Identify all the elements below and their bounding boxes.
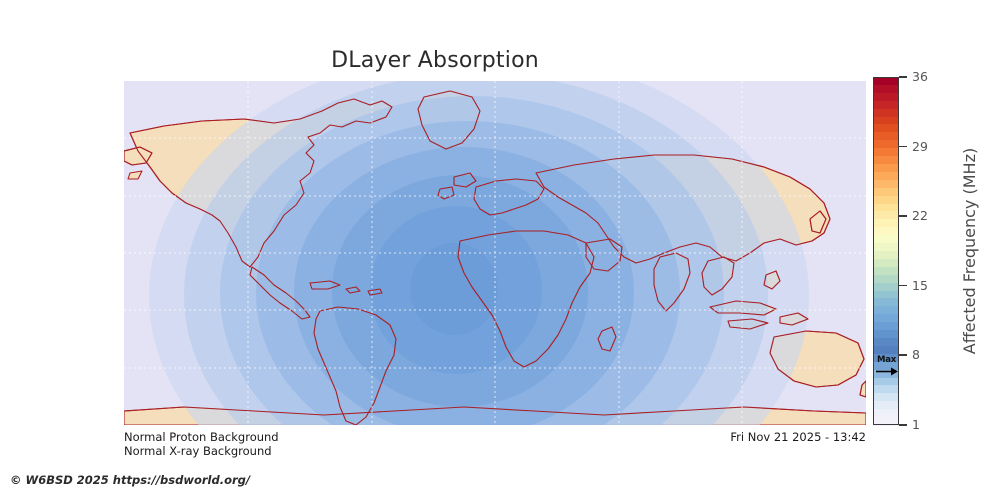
colorbar-tick-label: 22	[912, 208, 928, 224]
colorbar-tick-label: 36	[912, 69, 928, 85]
page-title: DLayer Absorption	[0, 48, 870, 73]
colorbar-tick-line	[899, 215, 907, 217]
plot-root: DLayer Absorption	[0, 0, 1000, 500]
colorbar-tick-line	[899, 354, 907, 356]
colorbar-axis-label: Affected Frequency (MHz)	[957, 77, 983, 425]
timestamp-label: Fri Nov 21 2025 - 13:42	[730, 430, 866, 444]
colorbar-tick-line	[899, 146, 907, 148]
colorbar-tick-label: 8	[912, 347, 920, 363]
copyright-label: © W6BSD 2025 https://bsdworld.org/	[10, 473, 250, 487]
max-arrow-icon	[876, 367, 898, 376]
colorbar-tick-line	[899, 76, 907, 78]
max-marker-label: Max	[877, 355, 896, 365]
note-xray-background: Normal X-ray Background	[124, 444, 272, 458]
colorbar-ticks: 3629221581	[899, 77, 959, 425]
colorbar-tick-label: 29	[912, 139, 928, 155]
colorbar-tick-label: 15	[912, 278, 928, 294]
world-map	[124, 81, 866, 425]
colorbar: Max	[873, 77, 899, 425]
colorbar-tick-line	[899, 424, 907, 426]
note-proton-background: Normal Proton Background	[124, 430, 279, 444]
map-canvas	[124, 81, 866, 425]
colorbar-tick-label: 1	[912, 417, 920, 433]
colorbar-tick-line	[899, 285, 907, 287]
